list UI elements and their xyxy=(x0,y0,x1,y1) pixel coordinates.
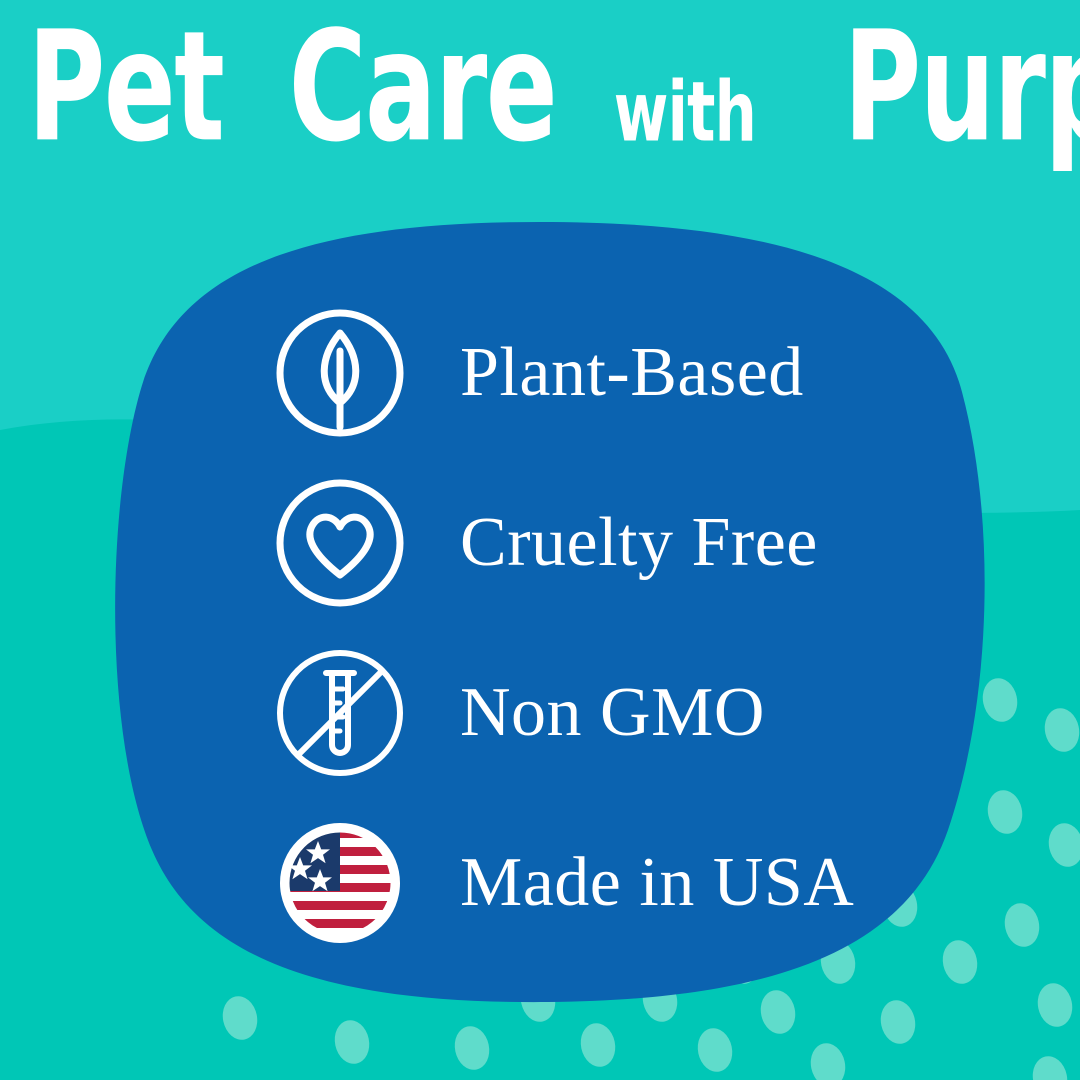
no-gmo-icon xyxy=(272,645,408,781)
promo-graphic: PetCarewithPurpose® Plant-Based Cruelty … xyxy=(0,0,1080,1080)
headline-word-purpose: Purpose xyxy=(843,12,1080,164)
leaf-icon xyxy=(272,305,408,441)
feature-row-made-in-usa: Made in USA xyxy=(272,798,972,968)
feature-row-plant-based: Plant-Based xyxy=(272,288,972,458)
feature-label-non-gmo: Non GMO xyxy=(460,678,765,748)
usa-flag-icon xyxy=(272,815,408,951)
headline-word-with: with xyxy=(612,71,757,154)
feature-label-cruelty-free: Cruelty Free xyxy=(460,508,818,578)
headline-word-pet: Pet xyxy=(28,12,224,164)
page-title: PetCarewithPurpose® xyxy=(0,28,1080,164)
heart-icon xyxy=(272,475,408,611)
feature-badge-list: Plant-Based Cruelty Free xyxy=(272,288,972,968)
feature-label-made-in-usa: Made in USA xyxy=(460,848,854,918)
feature-label-plant-based: Plant-Based xyxy=(460,338,804,408)
headline-word-care: Care xyxy=(289,12,556,164)
feature-row-cruelty-free: Cruelty Free xyxy=(272,458,972,628)
feature-row-non-gmo: Non GMO xyxy=(272,628,972,798)
